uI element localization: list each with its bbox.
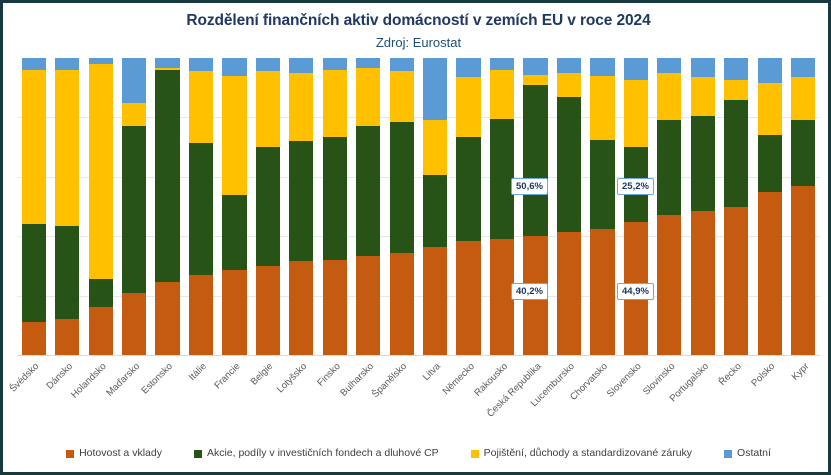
- bar-segment[interactable]: [22, 322, 46, 355]
- x-axis-labels: ŠvédskoDánskoHolandskoMaďarskoEstonskoIt…: [17, 357, 820, 437]
- bar-column[interactable]: [256, 58, 280, 355]
- bar-column[interactable]: [356, 58, 380, 355]
- bar-column[interactable]: [289, 58, 313, 355]
- legend-swatch-icon: [194, 450, 202, 458]
- bar-segment[interactable]: [423, 175, 447, 246]
- bar-segment[interactable]: [22, 70, 46, 224]
- x-axis-label-cell: Kypr: [786, 357, 819, 437]
- bar-segment[interactable]: [356, 58, 380, 68]
- bar-segment[interactable]: [323, 70, 347, 137]
- bar-segment[interactable]: [89, 64, 113, 279]
- bar-column[interactable]: [456, 58, 480, 355]
- bar-segment[interactable]: [758, 192, 782, 355]
- sk-equity-label: 25,2%: [617, 178, 654, 195]
- title-block: Rozdělení finančních aktiv domácností v …: [3, 11, 831, 52]
- cz-equity-label: 50,6%: [511, 178, 548, 195]
- bar-segment[interactable]: [256, 58, 280, 71]
- x-axis-label-cell: Belgie: [251, 357, 284, 437]
- plot-area: [17, 58, 820, 355]
- bar-segment[interactable]: [289, 141, 313, 261]
- bar-segment[interactable]: [89, 279, 113, 307]
- bar-segment[interactable]: [356, 68, 380, 126]
- bar-segment[interactable]: [557, 73, 581, 97]
- chart-frame: Rozdělení finančních aktiv domácností v …: [0, 0, 831, 475]
- bar-column[interactable]: [155, 58, 179, 355]
- x-axis-label-cell: Itálie: [184, 357, 217, 437]
- bar-segment[interactable]: [657, 58, 681, 73]
- bar-segment[interactable]: [691, 58, 715, 77]
- bar-segment[interactable]: [724, 207, 748, 356]
- bar-segment[interactable]: [323, 137, 347, 260]
- bar-column[interactable]: [624, 58, 648, 355]
- x-axis-label: Finsko: [315, 361, 343, 389]
- bar-segment[interactable]: [490, 58, 514, 70]
- bar-segment[interactable]: [390, 71, 414, 121]
- bar-segment[interactable]: [590, 76, 614, 140]
- bar-segment[interactable]: [657, 215, 681, 355]
- bar-column[interactable]: [390, 58, 414, 355]
- bar-segment[interactable]: [22, 58, 46, 70]
- legend-swatch-icon: [66, 450, 74, 458]
- bar-column[interactable]: [758, 58, 782, 355]
- bar-segment[interactable]: [523, 75, 547, 85]
- bar-column[interactable]: [791, 58, 815, 355]
- bar-segment[interactable]: [356, 126, 380, 255]
- bar-segment[interactable]: [189, 275, 213, 355]
- bar-segment[interactable]: [256, 71, 280, 147]
- x-axis-label: Litva: [421, 361, 443, 383]
- bar-segment[interactable]: [155, 70, 179, 282]
- bar-segment[interactable]: [456, 241, 480, 355]
- bar-segment[interactable]: [22, 224, 46, 322]
- bar-segment[interactable]: [256, 266, 280, 355]
- bar-segment[interactable]: [724, 80, 748, 99]
- legend-swatch-icon: [471, 450, 479, 458]
- bar-segment[interactable]: [758, 83, 782, 135]
- bar-segment[interactable]: [289, 58, 313, 73]
- bar-segment[interactable]: [657, 120, 681, 215]
- bar-segment[interactable]: [557, 58, 581, 73]
- bar-segment[interactable]: [657, 73, 681, 121]
- bar-segment[interactable]: [590, 229, 614, 355]
- bar-segment[interactable]: [590, 58, 614, 76]
- x-axis-label-cell: Francie: [218, 357, 251, 437]
- bar-column[interactable]: [490, 58, 514, 355]
- bar-column[interactable]: [189, 58, 213, 355]
- bar-column[interactable]: [22, 58, 46, 355]
- bar-segment[interactable]: [456, 137, 480, 241]
- bar-segment[interactable]: [456, 58, 480, 77]
- bar-column[interactable]: [590, 58, 614, 355]
- bar-segment[interactable]: [323, 58, 347, 70]
- bar-column[interactable]: [122, 58, 146, 355]
- x-axis-label: Švédsko: [8, 361, 42, 395]
- bar-segment[interactable]: [189, 143, 213, 275]
- bar-segment[interactable]: [122, 58, 146, 103]
- bar-segment[interactable]: [89, 307, 113, 355]
- bar-segment[interactable]: [590, 140, 614, 229]
- x-axis-label: Belgie: [249, 361, 275, 387]
- bar-segment[interactable]: [155, 282, 179, 355]
- bar-segment[interactable]: [624, 80, 648, 147]
- x-axis-label: Řecko: [717, 361, 744, 388]
- bar-segment[interactable]: [624, 58, 648, 80]
- x-axis-label-cell: Švédsko: [17, 357, 50, 437]
- bar-segment[interactable]: [691, 77, 715, 116]
- bar-segment[interactable]: [557, 97, 581, 232]
- bar-segment[interactable]: [155, 58, 179, 68]
- bar-segment[interactable]: [55, 319, 79, 355]
- bar-segment[interactable]: [122, 126, 146, 292]
- bar-column[interactable]: [55, 58, 79, 355]
- bar-segment[interactable]: [523, 58, 547, 75]
- bar-segment[interactable]: [390, 122, 414, 253]
- bar-segment[interactable]: [55, 70, 79, 226]
- sk-cash-label: 44,9%: [617, 283, 654, 300]
- bar-column[interactable]: [691, 58, 715, 355]
- bar-segment[interactable]: [256, 147, 280, 266]
- bar-segment[interactable]: [423, 58, 447, 120]
- bar-segment[interactable]: [691, 116, 715, 211]
- legend-label: Akcie, podíly v investičních fondech a d…: [207, 447, 439, 460]
- bar-segment[interactable]: [758, 135, 782, 191]
- bar-segment[interactable]: [323, 260, 347, 355]
- bar-column[interactable]: [423, 58, 447, 355]
- x-axis-line: [17, 355, 820, 356]
- bar-segment[interactable]: [456, 77, 480, 136]
- bar-segment[interactable]: [222, 76, 246, 195]
- legend-swatch-icon: [724, 450, 732, 458]
- legend-item-insurance[interactable]: Pojištění, důchody a standardizované zár…: [471, 447, 692, 460]
- bar-segment[interactable]: [289, 261, 313, 355]
- x-axis-label-cell: Polsko: [753, 357, 786, 437]
- x-axis-label-cell: Maďarsko: [117, 357, 150, 437]
- x-axis-label: Itálie: [187, 361, 209, 383]
- x-axis-label-cell: Španělsko: [385, 357, 418, 437]
- bar-segment[interactable]: [557, 232, 581, 355]
- legend-item-other[interactable]: Ostatní: [724, 447, 771, 460]
- bar-segment[interactable]: [122, 293, 146, 355]
- bar-segment[interactable]: [490, 70, 514, 119]
- x-axis-label: Kypr: [789, 361, 811, 383]
- bar-segment[interactable]: [423, 120, 447, 175]
- legend-label: Ostatní: [737, 447, 771, 460]
- bar-column[interactable]: [323, 58, 347, 355]
- legend-label: Pojištění, důchody a standardizované zár…: [484, 447, 692, 460]
- chart-subtitle: Zdroj: Eurostat: [3, 33, 831, 52]
- chart-legend: Hotovost a vkladyAkcie, podíly v investi…: [3, 447, 831, 460]
- x-axis-label-cell: Litva: [418, 357, 451, 437]
- x-axis-label-cell: Portugalsko: [686, 357, 719, 437]
- legend-item-cash[interactable]: Hotovost a vklady: [66, 447, 162, 460]
- bar-column[interactable]: [724, 58, 748, 355]
- bar-segment[interactable]: [189, 58, 213, 71]
- bar-segment[interactable]: [791, 58, 815, 77]
- bar-segment[interactable]: [390, 253, 414, 355]
- bar-column[interactable]: [523, 58, 547, 355]
- x-axis-label-cell: Řecko: [720, 357, 753, 437]
- bar-segment[interactable]: [122, 103, 146, 127]
- bar-segment[interactable]: [791, 77, 815, 120]
- bar-series-group: [17, 58, 820, 355]
- x-axis-label-cell: Estonsko: [151, 357, 184, 437]
- cz-cash-label: 40,2%: [511, 283, 548, 300]
- bar-segment[interactable]: [189, 71, 213, 142]
- bar-segment[interactable]: [55, 226, 79, 320]
- bar-segment[interactable]: [356, 256, 380, 355]
- legend-label: Hotovost a vklady: [79, 447, 162, 460]
- bar-segment[interactable]: [390, 58, 414, 71]
- x-axis-label: Polsko: [750, 361, 778, 389]
- bar-segment[interactable]: [724, 58, 748, 80]
- bar-segment[interactable]: [423, 247, 447, 355]
- bar-segment[interactable]: [691, 211, 715, 355]
- bar-column[interactable]: [89, 58, 113, 355]
- bar-segment[interactable]: [222, 270, 246, 355]
- chart-title: Rozdělení finančních aktiv domácností v …: [3, 11, 831, 31]
- bar-column[interactable]: [557, 58, 581, 355]
- bar-column[interactable]: [657, 58, 681, 355]
- bar-segment[interactable]: [758, 58, 782, 83]
- bar-segment[interactable]: [289, 73, 313, 141]
- bar-segment[interactable]: [791, 186, 815, 355]
- x-axis-label-cell: Lotyšsko: [285, 357, 318, 437]
- bar-segment[interactable]: [222, 58, 246, 76]
- legend-item-equity[interactable]: Akcie, podíly v investičních fondech a d…: [194, 447, 439, 460]
- bar-segment[interactable]: [791, 120, 815, 185]
- bar-segment[interactable]: [55, 58, 79, 70]
- bar-segment[interactable]: [523, 85, 547, 235]
- bar-segment[interactable]: [724, 100, 748, 207]
- bar-segment[interactable]: [222, 195, 246, 271]
- bar-column[interactable]: [222, 58, 246, 355]
